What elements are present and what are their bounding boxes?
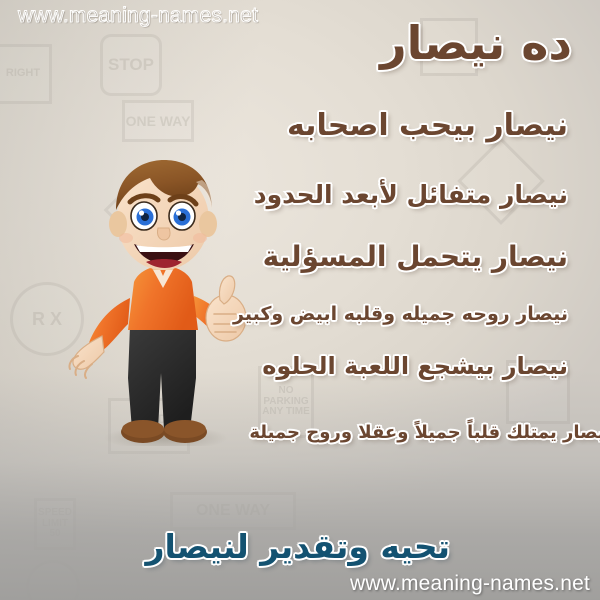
trait-line-5: نيصار بيشجع اللعبة الحلوه bbox=[262, 352, 568, 380]
closing-greeting: تحيه وتقدير لنيصار bbox=[145, 527, 450, 566]
trait-line-4: نيصار روحه جميله وقلبه ابيض وكبير bbox=[233, 303, 568, 325]
name-card-image: STOP ONE WAY ONE WAY ROAD CLOSED NO PARK… bbox=[0, 0, 600, 600]
trait-line-2: نيصار متفائل لأبعد الحدود bbox=[254, 180, 568, 209]
trait-line-1: نيصار بيحب اصحابه bbox=[287, 108, 568, 143]
card-title: ده نيصار bbox=[380, 16, 572, 70]
watermark-bottom: www.meaning-names.net bbox=[350, 572, 590, 596]
watermark-top: www.meaning-names.net bbox=[18, 4, 258, 28]
trait-line-3: نيصار يتحمل المسؤلية bbox=[263, 240, 568, 273]
cartoon-boy-illustration bbox=[68, 158, 258, 446]
trait-line-6: نيصار يمتلك قلباً جميلاً وعقلا وروح جميل… bbox=[249, 422, 600, 443]
